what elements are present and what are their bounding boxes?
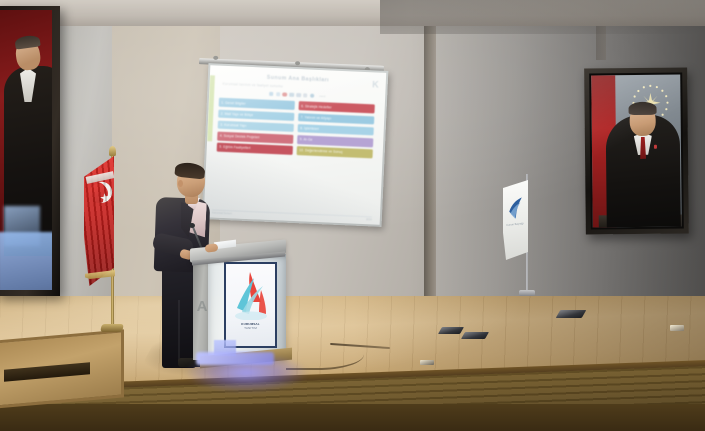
slide-row: 7. Yatırım ve Altyapı <box>298 113 374 125</box>
portrait-left-image <box>0 10 52 290</box>
turkish-flag-base <box>100 324 124 332</box>
slide: K Sunum Ana Başlıkları Kurumsal tanıtım … <box>204 65 386 225</box>
lectern-panel-line2: TANITIM <box>244 326 257 330</box>
institution-logo <box>228 268 275 320</box>
floor-in-front-of-stage <box>0 404 705 431</box>
slide-columns: 1. Genel Bilgiler 2. Mali Yapı ve Bütçe … <box>214 98 378 158</box>
portrait-right-image <box>591 75 682 228</box>
slide-row: 5. Eğitim Faaliyetleri <box>217 143 293 155</box>
lectern-panel-text: KURUMSAL TANITIM <box>230 322 271 331</box>
lectern-blue-led-strip <box>196 352 274 365</box>
floor-socket <box>461 332 489 339</box>
portrait-left-glass-reflection <box>0 232 52 290</box>
speaker-ear <box>178 180 183 187</box>
slide-row: 4. Sosyal Destek Projeleri <box>217 132 293 144</box>
projection-screen-surface: K Sunum Ana Başlıkları Kurumsal tanıtım … <box>204 65 386 225</box>
swoosh-logo-icon <box>506 195 527 223</box>
portrait-right-hair <box>628 102 656 115</box>
floor-socket <box>670 325 684 331</box>
institution-flag-base <box>519 290 535 296</box>
portrait-right-lapel-pin <box>654 145 657 149</box>
slide-footer: Kurumsal Sunum 2019 <box>212 209 372 221</box>
slide-footer-right: 2019 <box>366 218 372 221</box>
home-icon <box>269 92 274 97</box>
slide-row: 3. Kurumsal Yapı <box>218 120 294 132</box>
document-icon <box>303 93 308 98</box>
projection-screen[interactable]: K Sunum Ana Başlıkları Kurumsal tanıtım … <box>202 63 389 227</box>
slide-footer-left: Kurumsal Sunum <box>212 211 232 215</box>
target-icon <box>282 92 287 97</box>
turkish-flag-finial <box>109 146 116 156</box>
globe-icon <box>310 94 315 99</box>
chart-icon <box>276 92 281 97</box>
rail-knob <box>213 56 218 60</box>
slide-row: 8. İşbirlikleri <box>298 124 374 136</box>
slide-row: 2. Mali Yapı ve Bütçe <box>218 109 294 121</box>
slide-row: 9. Ar-Ge <box>297 135 373 147</box>
slide-row: 1. Genel Bilgiler <box>219 98 295 110</box>
slide-row: 6. Stratejik Hedefler <box>299 102 375 114</box>
lectern-panel-line1: KURUMSAL <box>241 322 260 326</box>
portrait-right-president <box>584 67 689 234</box>
slide-icon-row-label: menü <box>319 95 326 98</box>
slide-right-column: 6. Stratejik Hedefler 7. Yatırım ve Alty… <box>297 102 375 159</box>
floor-socket <box>556 310 587 318</box>
microphone-head-icon <box>189 223 195 228</box>
slide-row: 10. Değerlendirme ve Sonuç <box>297 146 373 158</box>
conference-hall-photo: K Sunum Ana Başlıkları Kurumsal tanıtım … <box>0 0 705 431</box>
floor-socket <box>438 327 464 334</box>
floor-socket <box>420 360 434 365</box>
portrait-left-ataturk <box>0 6 60 296</box>
gear-icon <box>296 93 301 98</box>
people-icon <box>289 93 294 98</box>
rail-knob <box>295 61 300 65</box>
slide-left-column: 1. Genel Bilgiler 2. Mali Yapı ve Bütçe … <box>217 98 295 155</box>
lectern-front-panel: KURUMSAL TANITIM <box>224 262 277 348</box>
